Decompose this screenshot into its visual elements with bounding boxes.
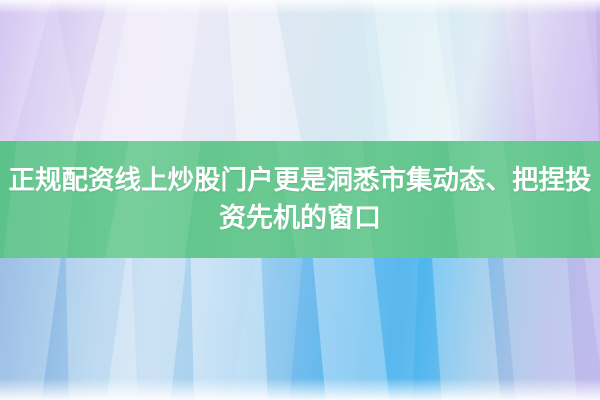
top-gradient-panel bbox=[0, 0, 600, 141]
top-white-fade bbox=[0, 0, 600, 14]
headline-line-2: 资先机的窗口 bbox=[219, 200, 381, 238]
bottom-white-fade bbox=[0, 378, 600, 400]
promo-banner: 正规配资线上炒股门户更是洞悉市集动态、把捏投 资先机的窗口 bbox=[0, 0, 600, 400]
top-angular-streaks-icon bbox=[0, 0, 600, 141]
banner-headline: 正规配资线上炒股门户更是洞悉市集动态、把捏投 资先机的窗口 bbox=[0, 141, 600, 258]
bottom-angular-streaks-icon bbox=[0, 258, 600, 400]
headline-line-1: 正规配资线上炒股门户更是洞悉市集动态、把捏投 bbox=[9, 162, 592, 200]
bottom-gradient-panel bbox=[0, 258, 600, 400]
